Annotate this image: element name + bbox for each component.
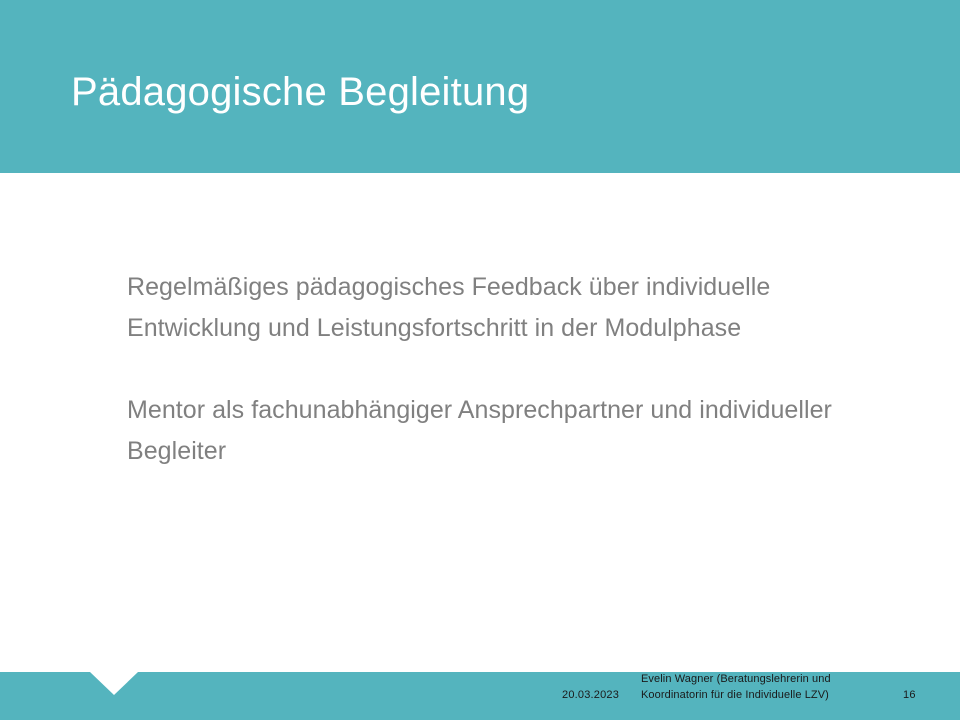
slide-header-band: Pädagogische Begleitung bbox=[0, 0, 960, 173]
slide-body: Regelmäßiges pädagogisches Feedback über… bbox=[0, 173, 960, 672]
footer-notch-triangle bbox=[90, 672, 138, 695]
footer-page-number: 16 bbox=[903, 689, 916, 701]
slide-title: Pädagogische Begleitung bbox=[71, 69, 529, 115]
footer-author: Evelin Wagner (Beratungslehrerin und Koo… bbox=[641, 671, 891, 703]
footer-author-line-2: Koordinatorin für die Individuelle LZV) bbox=[641, 687, 891, 703]
footer-author-line-1: Evelin Wagner (Beratungslehrerin und bbox=[641, 671, 891, 687]
content-block: Regelmäßiges pädagogisches Feedback über… bbox=[127, 267, 887, 472]
body-paragraph: Regelmäßiges pädagogisches Feedback über… bbox=[127, 267, 887, 349]
body-paragraph: Mentor als fachunabhängiger Ansprechpart… bbox=[127, 390, 887, 472]
presentation-slide: Pädagogische Begleitung Regelmäßiges päd… bbox=[0, 0, 960, 720]
footer-date: 20.03.2023 bbox=[562, 689, 619, 701]
